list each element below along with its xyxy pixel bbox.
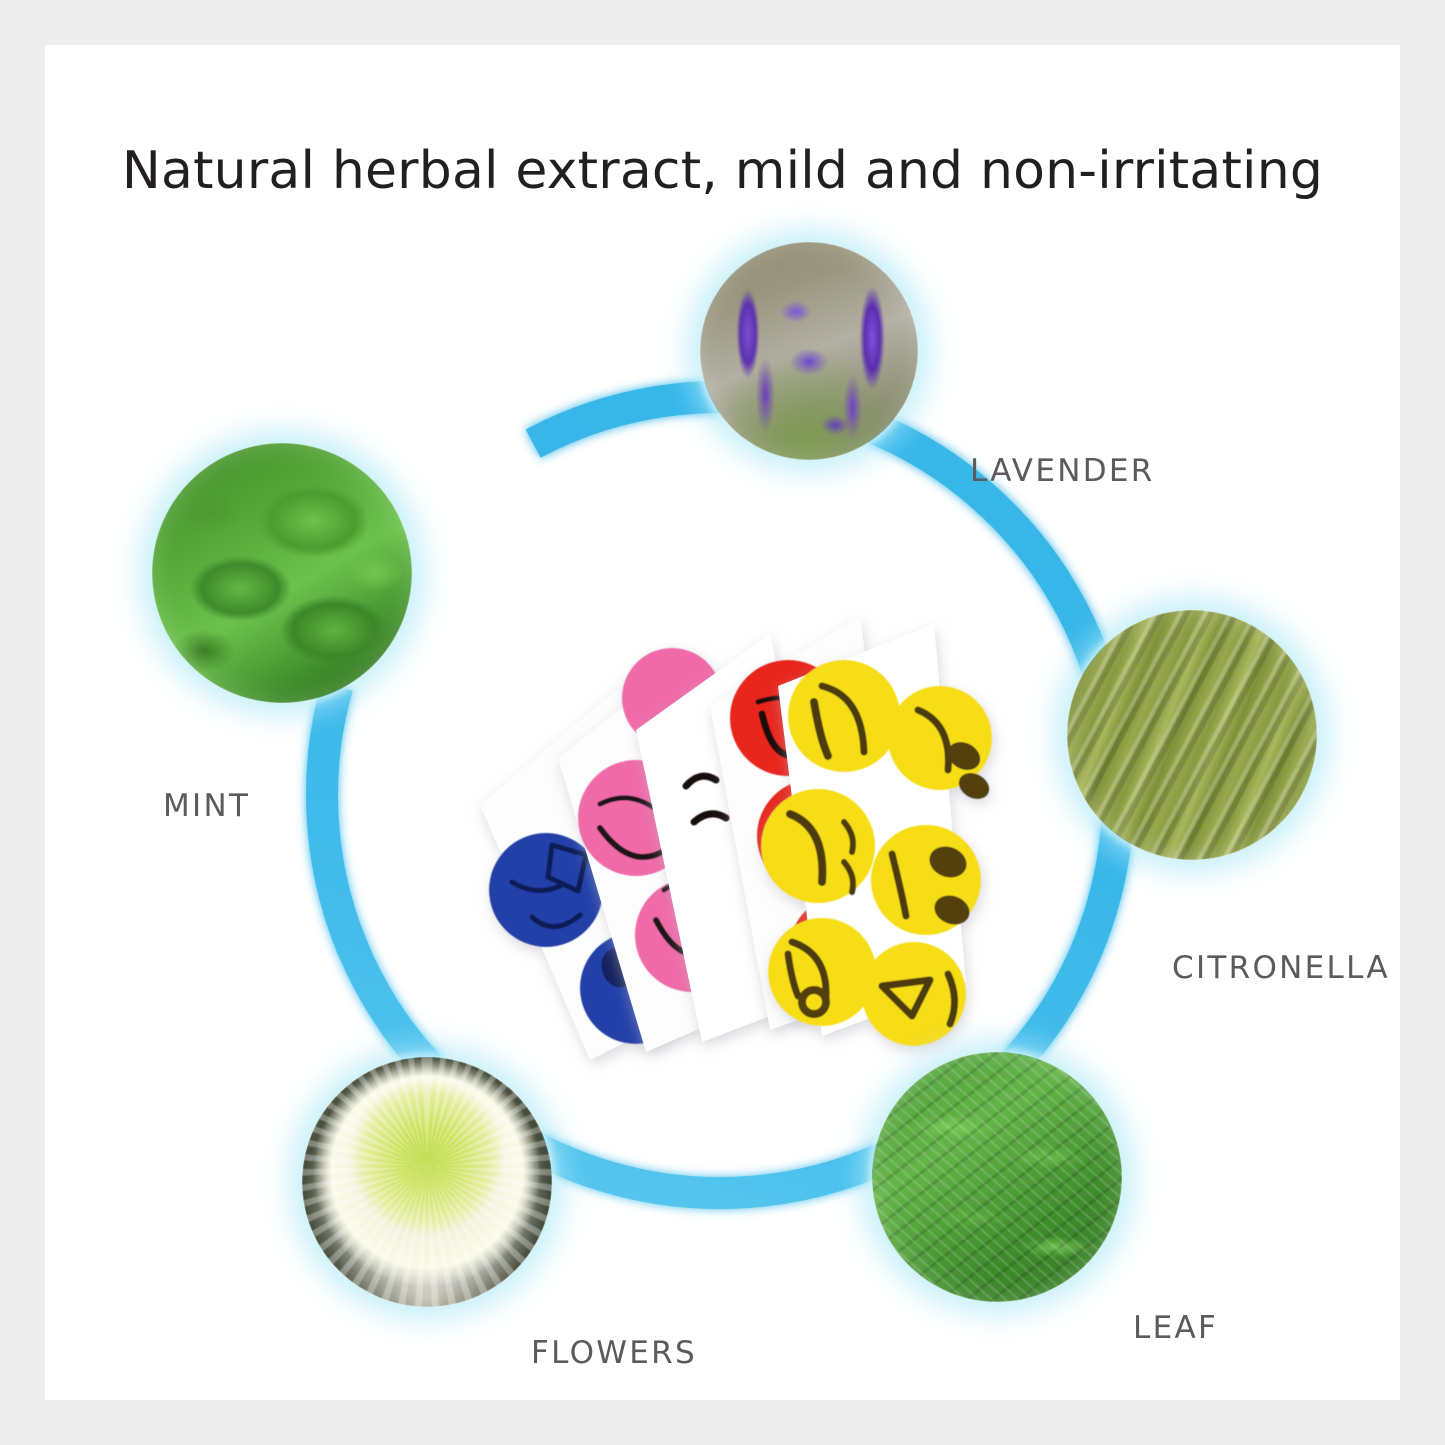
- ingredient-label-mint: MINT: [163, 788, 250, 824]
- bubble-gloss: [302, 1057, 552, 1307]
- ingredient-label-citronella: CITRONELLA: [1172, 950, 1390, 986]
- page-title: Natural herbal extract, mild and non-irr…: [45, 141, 1400, 201]
- ingredient-label-leaf: LEAF: [1133, 1310, 1218, 1346]
- ingredient-bubble-leaf[interactable]: [872, 1052, 1122, 1302]
- bubble-gloss: [152, 443, 412, 703]
- ingredient-bubble-citronella[interactable]: [1067, 610, 1317, 860]
- bubble-gloss: [1067, 610, 1317, 860]
- patch-sheet-yellow: [761, 624, 994, 1046]
- ingredient-label-flowers: FLOWERS: [531, 1335, 697, 1371]
- bubble-gloss: [872, 1052, 1122, 1302]
- poster-root: Natural herbal extract, mild and non-irr…: [0, 0, 1445, 1445]
- ingredient-label-lavender: LAVENDER: [970, 453, 1155, 489]
- product-photo: [440, 590, 1010, 1080]
- ingredient-bubble-lavender[interactable]: [700, 242, 918, 460]
- ingredient-bubble-flowers[interactable]: [302, 1057, 552, 1307]
- poster-card: Natural herbal extract, mild and non-irr…: [45, 45, 1400, 1400]
- ingredient-bubble-mint[interactable]: [152, 443, 412, 703]
- bubble-gloss: [700, 242, 918, 460]
